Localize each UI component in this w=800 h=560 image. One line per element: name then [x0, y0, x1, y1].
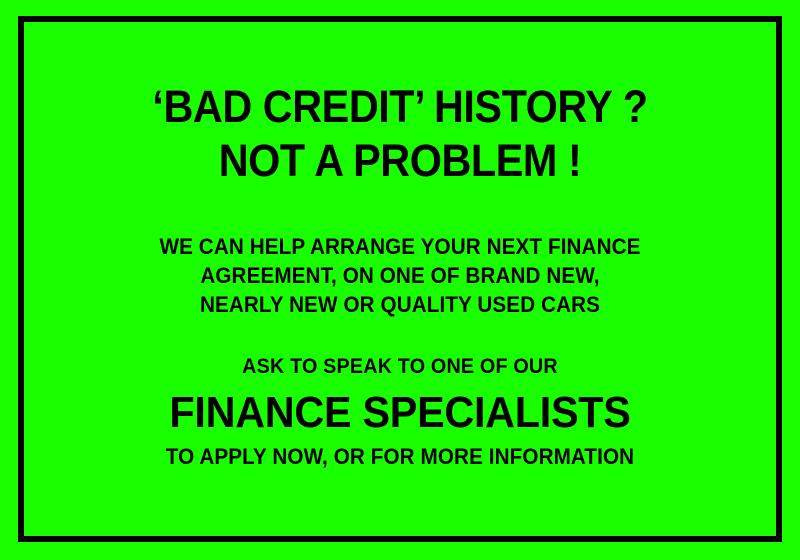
- cta-lead-text: ASK TO SPEAK TO ONE OF OUR: [47, 353, 754, 381]
- headline-block: ‘BAD CREDIT’ HISTORY ? NOT A PROBLEM !: [24, 80, 776, 188]
- body-line-1: WE CAN HELP ARRANGE YOUR NEXT FINANCE: [47, 232, 754, 261]
- headline-line-2: NOT A PROBLEM !: [54, 134, 746, 188]
- body-line-2: AGREEMENT, ON ONE OF BRAND NEW,: [47, 261, 754, 290]
- advertisement-poster: ‘BAD CREDIT’ HISTORY ? NOT A PROBLEM ! W…: [0, 0, 800, 560]
- headline-line-1: ‘BAD CREDIT’ HISTORY ?: [54, 80, 746, 134]
- cta-headline-text: FINANCE SPECIALISTS: [47, 385, 754, 441]
- body-text-block: WE CAN HELP ARRANGE YOUR NEXT FINANCE AG…: [24, 232, 776, 319]
- poster-content: ‘BAD CREDIT’ HISTORY ? NOT A PROBLEM ! W…: [24, 22, 776, 536]
- body-line-3: NEARLY NEW OR QUALITY USED CARS: [47, 290, 754, 319]
- call-to-action-block: ASK TO SPEAK TO ONE OF OUR FINANCE SPECI…: [24, 353, 776, 471]
- cta-tail-text: TO APPLY NOW, OR FOR MORE INFORMATION: [47, 443, 754, 471]
